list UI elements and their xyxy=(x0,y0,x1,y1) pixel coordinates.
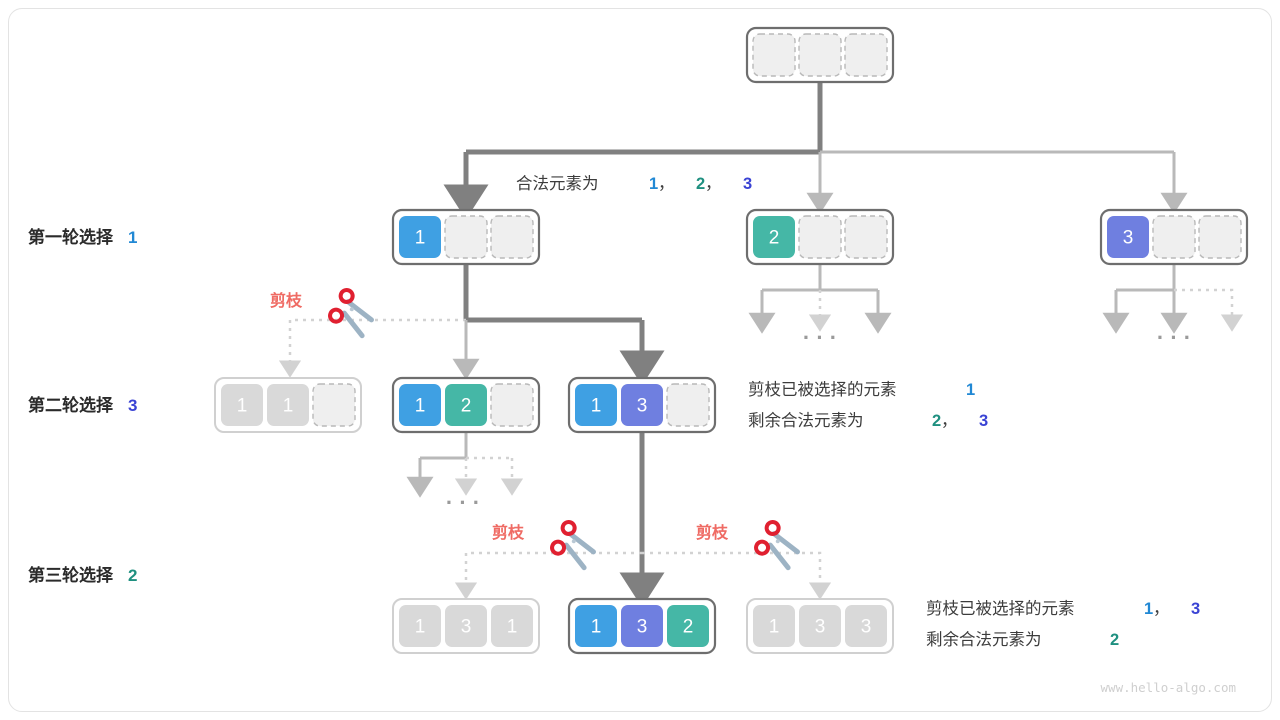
side-note-0-line2-value-1: 3 xyxy=(979,412,988,430)
legal-elements-note: 合法元素为 1 ， 2 ， 3 xyxy=(516,174,752,193)
edges-n12-subtree: · · · xyxy=(420,428,512,515)
side-note-0-line2-sep: ， xyxy=(941,412,958,430)
node-cell xyxy=(313,384,355,426)
node-cell xyxy=(799,216,841,258)
side-note-0-line2-value-0: 2 xyxy=(932,412,941,430)
node-row2-0: 11 xyxy=(215,378,361,432)
round-label-value-1: 3 xyxy=(128,396,137,415)
node-row1-2: 3 xyxy=(1101,210,1247,264)
legal-note-value-0: 1 xyxy=(649,175,658,193)
legal-note-value-1: 2 xyxy=(696,175,705,193)
node-cell xyxy=(845,34,887,76)
edges-n3-subtree: · · · xyxy=(1116,260,1232,350)
node-cell xyxy=(491,384,533,426)
side-note-0: 剪枝已被选择的元素 1 剩余合法元素为 2 ， 3 xyxy=(748,380,988,430)
prune-marker-0: 剪枝 xyxy=(270,287,378,337)
legal-note-sep-1: ， xyxy=(705,175,722,193)
node-row3-1: 132 xyxy=(569,599,715,653)
node-cell-value: 1 xyxy=(507,617,518,638)
node-row3-2: 133 xyxy=(747,599,893,653)
side-note-1-line2-prefix: 剩余合法元素为 xyxy=(926,630,1042,649)
ellipsis-under-n12: · · · xyxy=(446,490,480,515)
node-cell xyxy=(845,216,887,258)
node-cell-value: 3 xyxy=(461,617,472,638)
edge-n1-to-pruned-11 xyxy=(290,320,466,368)
side-note-1-line1-sep: ， xyxy=(1153,600,1170,618)
node-cell-value: 2 xyxy=(769,228,780,249)
edge-n13-to-pruned-133 xyxy=(642,553,820,590)
node-cell-value: 1 xyxy=(415,617,426,638)
node-cell xyxy=(1153,216,1195,258)
node-cell-value: 1 xyxy=(283,396,294,417)
round-label-1: 第二轮选择 3 xyxy=(28,395,137,415)
node-cell-value: 2 xyxy=(683,617,694,638)
node-cell xyxy=(445,216,487,258)
side-note-1-line1-prefix: 剪枝已被选择的元素 xyxy=(926,599,1075,618)
side-note-1-line1-value-1: 3 xyxy=(1191,600,1200,618)
prune-marker-1: 剪枝 xyxy=(492,519,600,569)
node-cell xyxy=(799,34,841,76)
backtracking-pruning-diagram: · · · · · · · · · 123111213131132133 xyxy=(0,0,1280,720)
round-label-value-2: 2 xyxy=(128,566,137,585)
side-note-0-line2-prefix: 剩余合法元素为 xyxy=(748,411,864,430)
node-cell-value: 1 xyxy=(415,228,426,249)
side-note-1: 剪枝已被选择的元素 1 ， 3 剩余合法元素为 2 xyxy=(926,599,1200,649)
node-cell-value: 3 xyxy=(637,617,648,638)
prune-label-2: 剪枝 xyxy=(696,523,729,542)
prune-label-0: 剪枝 xyxy=(270,291,303,310)
edges-n2-subtree: · · · xyxy=(762,260,878,350)
legal-note-sep-0: ， xyxy=(658,175,675,193)
diagram-canvas: · · · · · · · · · 123111213131132133 xyxy=(0,0,1280,720)
prune-marker-2: 剪枝 xyxy=(696,519,804,569)
nodes-layer: 123111213131132133 xyxy=(215,28,1247,653)
ellipsis-under-n3: · · · xyxy=(1157,325,1191,350)
node-row2-1: 12 xyxy=(393,378,539,432)
node-cell xyxy=(1199,216,1241,258)
node-cell-value: 3 xyxy=(861,617,872,638)
round-label-text-0: 第一轮选择 xyxy=(28,227,114,247)
node-cell xyxy=(491,216,533,258)
round-label-value-0: 1 xyxy=(128,228,137,247)
legal-note-value-2: 3 xyxy=(743,175,752,193)
node-cell-value: 1 xyxy=(769,617,780,638)
side-note-1-line1-value-0: 1 xyxy=(1144,600,1153,618)
legal-note-prefix: 合法元素为 xyxy=(516,174,599,193)
node-cell xyxy=(753,34,795,76)
side-note-0-line1-value-0: 1 xyxy=(966,381,975,399)
side-note-1-line2-value-0: 2 xyxy=(1110,631,1119,649)
round-label-text-2: 第三轮选择 xyxy=(28,565,114,585)
node-row1-1: 2 xyxy=(747,210,893,264)
edge-n3-child-c-pruned xyxy=(1174,290,1232,322)
node-cell-value: 3 xyxy=(815,617,826,638)
node-cell-value: 3 xyxy=(637,396,648,417)
ellipsis-under-n2: · · · xyxy=(803,325,837,350)
node-row1-0: 1 xyxy=(393,210,539,264)
node-cell-value: 1 xyxy=(591,396,602,417)
node-row2-2: 13 xyxy=(569,378,715,432)
node-root xyxy=(747,28,893,82)
scissors-icon-0 xyxy=(327,287,378,337)
node-cell-value: 1 xyxy=(415,396,426,417)
round-label-2: 第三轮选择 2 xyxy=(28,565,137,585)
edge-n13-to-pruned-131 xyxy=(466,553,642,590)
side-note-0-line1-prefix: 剪枝已被选择的元素 xyxy=(748,380,897,399)
edges-n13-to-row3 xyxy=(466,428,820,590)
round-label-0: 第一轮选择 1 xyxy=(28,227,137,247)
node-cell-value: 2 xyxy=(461,396,472,417)
node-cell-value: 1 xyxy=(591,617,602,638)
node-cell-value: 1 xyxy=(237,396,248,417)
scissors-icon-1 xyxy=(549,519,600,569)
prune-label-1: 剪枝 xyxy=(492,523,525,542)
node-cell-value: 3 xyxy=(1123,228,1134,249)
scissors-icon-2 xyxy=(753,519,804,569)
node-row3-0: 131 xyxy=(393,599,539,653)
round-label-text-1: 第二轮选择 xyxy=(28,395,114,415)
watermark: www.hello-algo.com xyxy=(1101,680,1236,695)
node-cell xyxy=(667,384,709,426)
